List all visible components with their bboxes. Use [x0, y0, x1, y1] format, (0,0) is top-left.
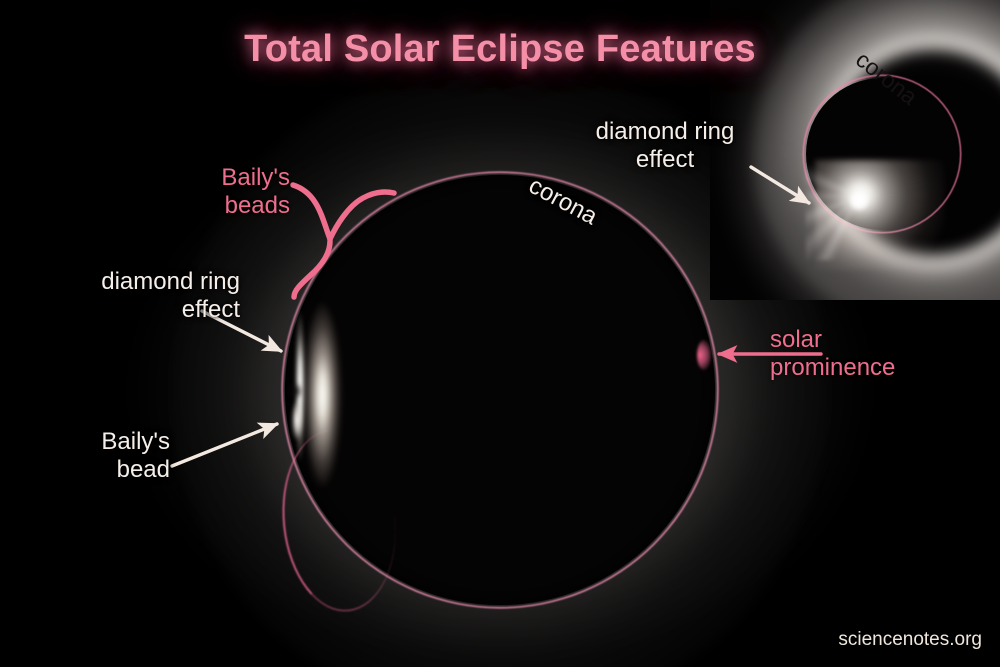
page-title: Total Solar Eclipse Features [0, 28, 1000, 71]
label-bailys-bead: Baily's bead [40, 428, 170, 484]
inset-diamond-ring-glow [815, 160, 945, 270]
label-diamond-ring-effect-inset: diamond ring effect [570, 118, 760, 174]
main-solar-prominence-spot [697, 340, 711, 370]
label-bailys-beads: Baily's beads [150, 164, 290, 220]
inset-diamond-ring-core [849, 191, 869, 211]
watermark-sciencenotes: sciencenotes.org [838, 629, 982, 651]
eclipse-infographic: Total Solar Eclipse Features Baily's bea… [0, 0, 1000, 667]
label-diamond-ring-effect-main: diamond ring effect [40, 268, 240, 324]
main-bailys-bead-spot [286, 395, 306, 451]
label-solar-prominence: solar prominence [770, 326, 990, 382]
